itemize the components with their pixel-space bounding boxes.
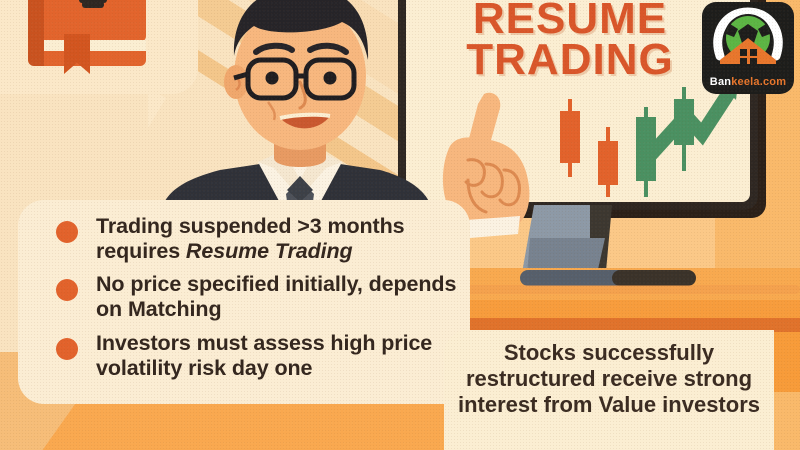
summary-card: Stocks successfully restructured receive…	[444, 330, 774, 450]
book-spine	[28, 0, 44, 66]
summary-text: Stocks successfully restructured receive…	[458, 340, 760, 418]
monitor-stand-base-shadow	[612, 270, 696, 286]
brand-name-secondary: keela.com	[731, 76, 786, 88]
list-item: No price specified initially, depends on…	[56, 272, 460, 321]
list-item-emphasis: Resume Trading	[186, 239, 353, 263]
key-points-card: Trading suspended >3 months requires Res…	[18, 200, 470, 404]
lightbulb-icon	[71, 0, 115, 12]
bankeela-globe-house-icon	[702, 2, 794, 80]
key-points-list: Trading suspended >3 months requires Res…	[56, 214, 460, 389]
infographic-canvas: RESUME TRADING	[0, 0, 800, 450]
list-item-label: Investors must assess high price volatil…	[96, 331, 460, 380]
list-item-label: No price specified initially, depends on…	[96, 272, 460, 321]
candlestick-body	[598, 141, 618, 185]
brand-logo-text: Bankeela.com	[702, 76, 794, 88]
page-title-line-1: RESUME	[410, 0, 730, 39]
brand-logo[interactable]: Bankeela.com	[702, 2, 794, 94]
book-base	[38, 51, 146, 66]
brand-name-primary: Ban	[710, 76, 731, 88]
list-item-label: Trading suspended >3 months requires Res…	[96, 214, 460, 263]
candlestick-bar	[598, 127, 618, 197]
candlestick-bar	[560, 99, 580, 177]
candlestick-body	[560, 111, 580, 163]
bullet-dot-icon	[56, 338, 78, 360]
bullet-dot-icon	[56, 279, 78, 301]
book-with-lightbulb-icon	[28, 0, 146, 66]
bullet-dot-icon	[56, 221, 78, 243]
list-item: Trading suspended >3 months requires Res…	[56, 214, 460, 263]
list-item: Investors must assess high price volatil…	[56, 331, 460, 380]
